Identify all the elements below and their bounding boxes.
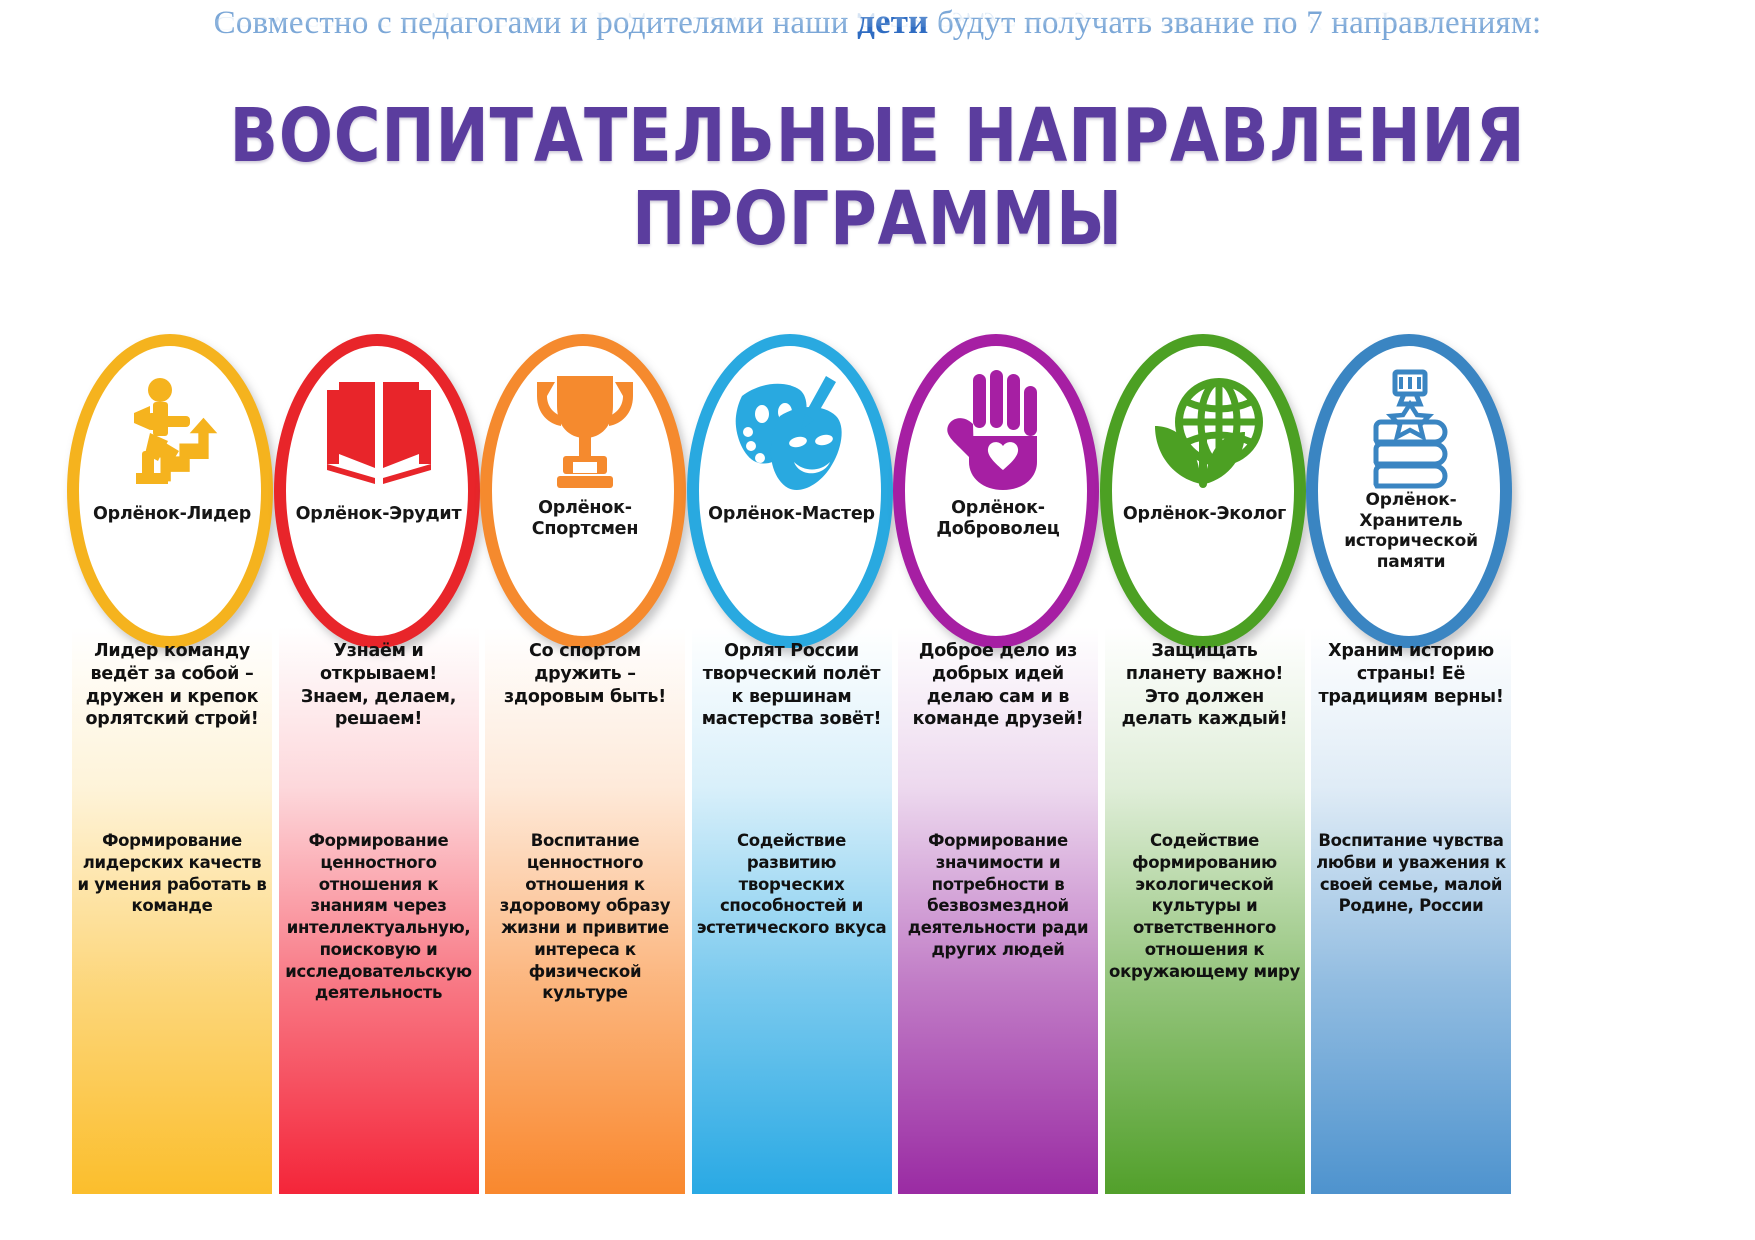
direction-badge[interactable]: Орлёнок-​Лидер — [65, 332, 279, 654]
direction-goal: Формирование значимости и потребности в … — [902, 830, 1094, 961]
direction-badge[interactable]: Орлёнок-Спортсмен — [478, 332, 692, 654]
direction-goal: Формирование лидерских качеств и умения … — [76, 830, 268, 917]
top-banner-text-after: будут получать звание по 7 направлениям: — [929, 5, 1542, 41]
direction-slogan: Узнаём и открываем! Знаем, делаем, решае… — [285, 640, 473, 731]
direction-badge[interactable]: Орлёнок-Хранительисторическойпамяти — [1304, 332, 1518, 654]
globe-with-leaves-icon — [1098, 358, 1312, 506]
direction-badge[interactable]: Орлёнок-​Эрудит — [272, 332, 486, 654]
direction-slogan: Доброе дело из добрых идей делаю сам и в… — [904, 640, 1092, 731]
directions-grid: Орлёнок-​ЛидерЛидер команду ведёт за соб… — [72, 332, 1516, 1194]
direction-column[interactable]: Орлёнок-​ЛидерЛидер команду ведёт за соб… — [72, 332, 272, 1194]
direction-badge[interactable]: Орлёнок-​Эколог — [1098, 332, 1312, 654]
direction-slogan: Со спортом дружить – здоровым быть! — [491, 640, 679, 708]
leader-climbing-stairs-icon — [65, 358, 279, 506]
top-banner-text-before: Совместно с педагогами и родителями наши — [214, 5, 858, 41]
top-banner: Совместно с педагогами и родителями наши… — [0, 4, 1755, 66]
direction-goal: Воспитание ценностного отношения к здоро… — [489, 830, 681, 1004]
page-title-line-2: ПРОГРАММЫ — [123, 178, 1632, 261]
theatre-masks-paintbrush-icon — [685, 358, 899, 506]
top-banner-accent-word: дети — [857, 2, 928, 41]
direction-goal: Содействие формированию экологической ку… — [1109, 830, 1301, 982]
direction-badge-label: Орлёнок-Спортсмен — [488, 498, 682, 541]
direction-column[interactable]: Орлёнок-​ЭкологЗащищать планету важно! Э… — [1105, 332, 1305, 1194]
top-banner-text: Совместно с педагогами и родителями наши… — [214, 4, 1542, 40]
direction-badge-label: Орлёнок-Хранительисторическойпамяти — [1314, 490, 1508, 573]
direction-slogan: Храним историю страны! Её традициям верн… — [1317, 640, 1505, 708]
direction-badge-label: Орлёнок-​Эрудит — [282, 504, 476, 525]
direction-slogan: Лидер команду ведёт за собой – дружен и … — [78, 640, 266, 731]
direction-badge-label: Орлёнок-​Лидер — [75, 504, 269, 525]
direction-badge-label: Орлёнок-​Мастер — [695, 504, 889, 525]
direction-goal: Воспитание чувства любви и уважения к св… — [1315, 830, 1507, 917]
direction-slogan: Орлят России творческий полёт к вершинам… — [698, 640, 886, 731]
direction-badge-label: Орлёнок-Доброволец — [901, 498, 1095, 541]
medal-and-books-icon — [1304, 358, 1518, 506]
direction-slogan: Защищать планету важно! Это должен делат… — [1111, 640, 1299, 731]
hand-with-heart-icon — [891, 358, 1105, 506]
direction-column[interactable]: Орлёнок-СпортсменСо спортом дружить – зд… — [485, 332, 685, 1194]
direction-column[interactable]: Орлёнок-ХранительисторическойпамятиХрани… — [1311, 332, 1511, 1194]
open-book-icon — [272, 358, 486, 506]
direction-badge[interactable]: Орлёнок-Доброволец — [891, 332, 1105, 654]
page-title-line-1: ВОСПИТАТЕЛЬНЫЕ НАПРАВЛЕНИЯ — [123, 95, 1632, 178]
direction-goal: Содействие развитию творческих способнос… — [696, 830, 888, 939]
direction-goal: Формирование ценностного отношения к зна… — [283, 830, 475, 1004]
page-title: ВОСПИТАТЕЛЬНЫЕ НАПРАВЛЕНИЯ ПРОГРАММЫ — [123, 95, 1632, 261]
direction-column[interactable]: Орлёнок-ДоброволецДоброе дело из добрых … — [898, 332, 1098, 1194]
direction-badge[interactable]: Орлёнок-​Мастер — [685, 332, 899, 654]
direction-column[interactable]: Орлёнок-​ЭрудитУзнаём и открываем! Знаем… — [279, 332, 479, 1194]
direction-badge-label: Орлёнок-​Эколог — [1108, 504, 1302, 525]
trophy-icon — [478, 358, 692, 506]
direction-column[interactable]: Орлёнок-​МастерОрлят России творческий п… — [692, 332, 892, 1194]
